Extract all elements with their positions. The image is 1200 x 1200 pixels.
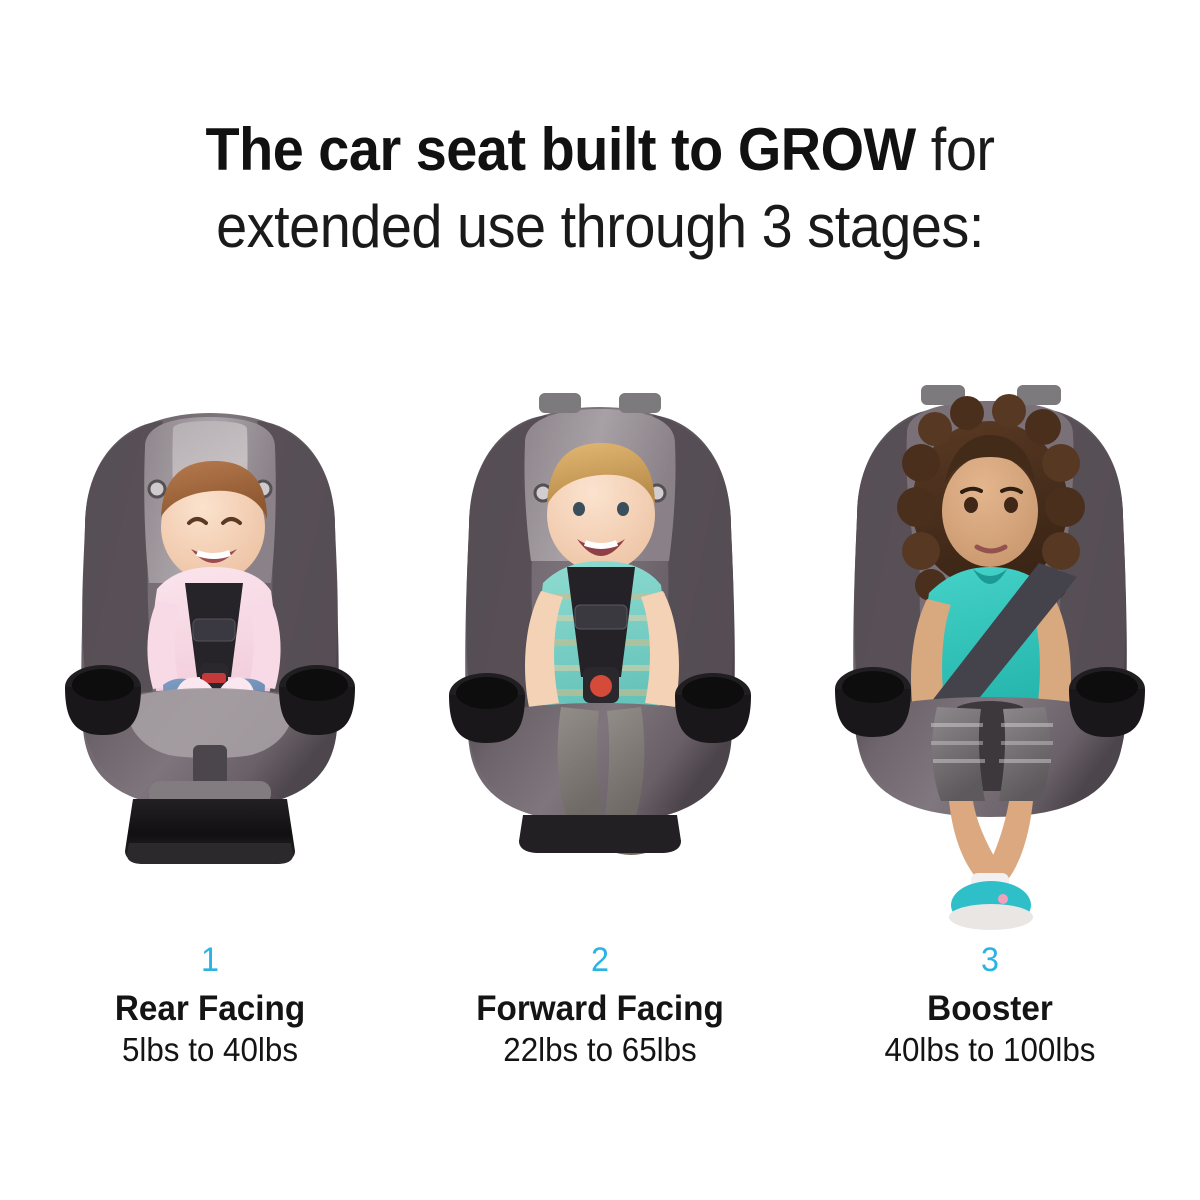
stages-row: 1 Rear Facing 5lbs to 40lbs: [0, 350, 1200, 1070]
toddler-leg-left: [558, 707, 603, 819]
stage-2-caption: 2 Forward Facing 22lbs to 65lbs: [405, 943, 795, 1070]
toddler-eye-right: [617, 502, 629, 516]
headrest-belt-tab-right: [619, 393, 661, 413]
infographic-page: The car seat built to GROW for extended …: [0, 0, 1200, 1200]
seat-base-lip: [127, 843, 293, 864]
harness-chest-clip: [575, 605, 627, 629]
cup-holder-left: [835, 667, 911, 737]
cup-holder-right: [1069, 667, 1145, 737]
girl-sneaker-sole: [949, 904, 1033, 930]
stage-3-illustration: [825, 377, 1155, 937]
booster-seat-icon: [825, 377, 1155, 937]
baby-arm-right: [249, 601, 281, 689]
toddler-eye-left: [573, 502, 585, 516]
girl-shorts-left: [932, 707, 985, 801]
harness-release-button: [202, 673, 226, 683]
rear-facing-car-seat-icon: [45, 377, 375, 937]
cup-holder-left: [65, 665, 141, 735]
harness-chest-clip: [193, 619, 235, 641]
stage-2-illustration: [435, 377, 765, 937]
girl-sneaker-detail: [998, 894, 1008, 904]
cup-holder-right: [675, 673, 751, 743]
seat-foot: [519, 815, 681, 853]
girl-shorts-right: [999, 707, 1050, 801]
stage-2-title: Forward Facing: [415, 989, 786, 1028]
stage-1-weight-range: 5lbs to 40lbs: [25, 1030, 396, 1070]
stage-1-title: Rear Facing: [25, 989, 396, 1028]
headrest-belt-tab-right: [1017, 385, 1061, 405]
stage-1-caption: 1 Rear Facing 5lbs to 40lbs: [15, 943, 405, 1070]
baby-teeth: [197, 553, 230, 556]
stage-2-forward-facing: 2 Forward Facing 22lbs to 65lbs: [405, 350, 795, 1070]
stage-1-illustration: [45, 377, 375, 937]
stage-3-title: Booster: [805, 989, 1176, 1028]
stage-2-number: 2: [415, 943, 786, 977]
headline-bold: The car seat built to GROW: [205, 116, 915, 183]
stage-1-rear-facing: 1 Rear Facing 5lbs to 40lbs: [15, 350, 405, 1070]
harness-release-button: [590, 675, 612, 697]
toddler-leg-right: [605, 707, 644, 819]
girl-eye-right: [1004, 497, 1018, 513]
headrest-belt-tab-left: [539, 393, 581, 413]
girl-eye-left: [964, 497, 978, 513]
forward-facing-car-seat-icon: [435, 377, 765, 937]
baby-arm-left: [147, 601, 179, 689]
belt-guide-knob-left: [149, 481, 165, 497]
stage-1-number: 1: [25, 943, 396, 977]
headline-line-2: extended use through 3 stages:: [42, 195, 1158, 260]
stage-3-caption: 3 Booster 40lbs to 100lbs: [795, 943, 1185, 1070]
headline-light-for: for: [916, 116, 995, 183]
stage-2-weight-range: 22lbs to 65lbs: [415, 1030, 786, 1070]
stage-3-weight-range: 40lbs to 100lbs: [805, 1030, 1176, 1070]
toddler-teeth: [585, 543, 617, 546]
page-title: The car seat built to GROW for extended …: [42, 118, 1158, 260]
stage-3-booster: 3 Booster 40lbs to 100lbs: [795, 350, 1185, 1070]
cup-holder-right: [279, 665, 355, 735]
cup-holder-left: [449, 673, 525, 743]
stage-3-number: 3: [805, 943, 1176, 977]
